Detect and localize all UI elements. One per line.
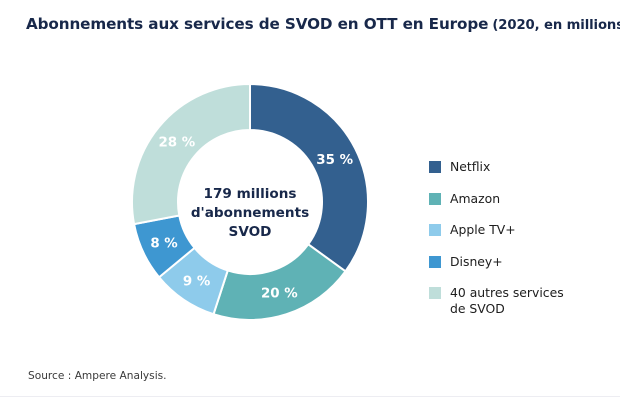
donut-slice-label: 28 % <box>158 135 195 150</box>
legend-item[interactable]: Netflix <box>429 159 609 175</box>
bottom-divider <box>0 396 620 397</box>
legend-item-label: Apple TV+ <box>450 222 516 238</box>
center-label-line2: d'abonnements <box>191 205 309 221</box>
page-title: Abonnements aux services de SVOD en OTT … <box>26 14 606 33</box>
chart-legend: NetflixAmazonApple TV+Disney+40 autres s… <box>429 159 609 333</box>
legend-swatch <box>429 287 441 299</box>
donut-slices <box>132 84 368 320</box>
legend-item[interactable]: Apple TV+ <box>429 222 609 238</box>
legend-swatch <box>429 224 441 236</box>
page-title-subtitle: (2020, en millions) <box>492 18 620 33</box>
donut-slice-label: 20 % <box>261 286 298 301</box>
donut-chart: 35 %20 %9 %8 %28 % 179 millions d'abonne… <box>110 62 390 342</box>
page-title-main: Abonnements aux services de SVOD en OTT … <box>26 15 488 33</box>
legend-item[interactable]: Disney+ <box>429 254 609 270</box>
legend-item-label: Disney+ <box>450 254 503 270</box>
donut-slice-label: 35 % <box>316 153 353 168</box>
legend-swatch <box>429 161 441 173</box>
center-label-line1: 179 millions <box>203 186 296 202</box>
legend-item-label: 40 autres services de SVOD <box>450 285 564 317</box>
legend-swatch <box>429 256 441 268</box>
legend-item-label: Amazon <box>450 191 500 207</box>
donut-slice[interactable] <box>250 84 368 271</box>
legend-item[interactable]: Amazon <box>429 191 609 207</box>
legend-item-label: Netflix <box>450 159 490 175</box>
legend-item[interactable]: 40 autres services de SVOD <box>429 285 609 317</box>
source-note: Source : Ampere Analysis. <box>28 370 167 382</box>
center-label-line3: SVOD <box>229 224 272 240</box>
donut-chart-svg: 35 %20 %9 %8 %28 % 179 millions d'abonne… <box>110 62 390 342</box>
donut-slice-label: 8 % <box>150 236 177 251</box>
legend-swatch <box>429 193 441 205</box>
donut-slice-label: 9 % <box>183 275 210 290</box>
donut-slice[interactable] <box>132 84 250 224</box>
